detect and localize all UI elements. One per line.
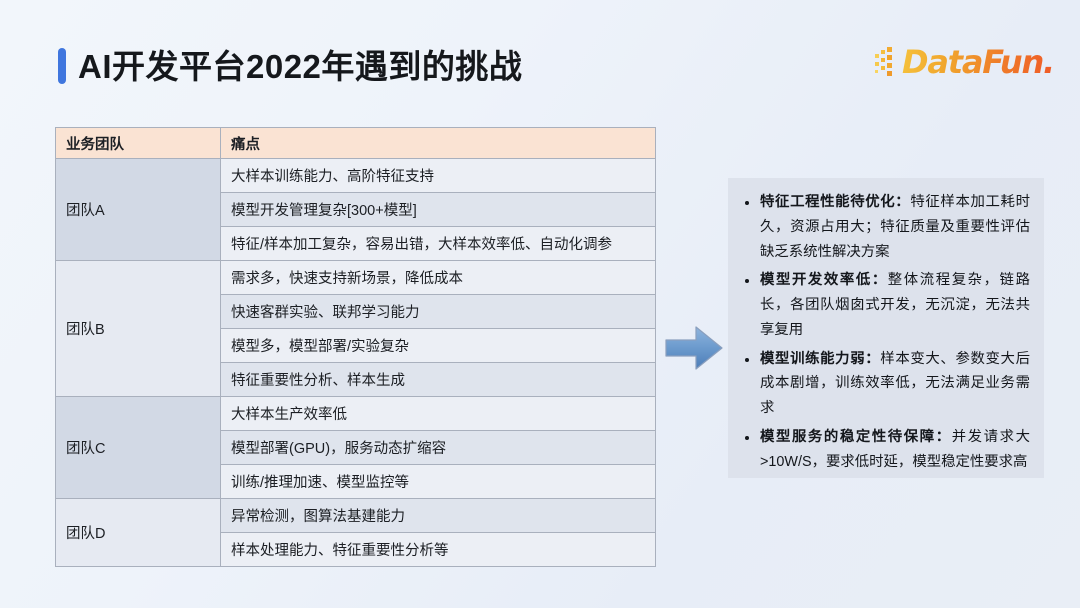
slide-root: AI开发平台2022年遇到的挑战 DataFun. xyxy=(0,0,1080,608)
challenges-list: 特征工程性能待优化：特征样本加工耗时久，资源占用大；特征质量及重要性评估缺乏系统… xyxy=(738,190,1030,474)
pain-point-cell: 需求多，快速支持新场景，降低成本 xyxy=(221,261,656,295)
list-item: 模型训练能力弱：样本变大、参数变大后成本剧增，训练效率低，无法满足业务需求 xyxy=(738,347,1030,421)
table-body: 团队A 大样本训练能力、高阶特征支持 模型开发管理复杂[300+模型] 特征/样… xyxy=(56,159,656,567)
pixel-dots-icon xyxy=(875,47,901,77)
challenges-callout-panel: 特征工程性能待优化：特征样本加工耗时久，资源占用大；特征质量及重要性评估缺乏系统… xyxy=(728,178,1044,478)
table-header: 业务团队 痛点 xyxy=(56,128,656,159)
page-title: AI开发平台2022年遇到的挑战 xyxy=(58,48,522,84)
pain-point-cell: 特征重要性分析、样本生成 xyxy=(221,363,656,397)
column-header-pain: 痛点 xyxy=(221,128,656,159)
pain-point-cell: 异常检测，图算法基建能力 xyxy=(221,499,656,533)
list-item: 模型服务的稳定性待保障：并发请求大>10W/S，要求低时延，模型稳定性要求高 xyxy=(738,425,1030,475)
list-item: 特征工程性能待优化：特征样本加工耗时久，资源占用大；特征质量及重要性评估缺乏系统… xyxy=(738,190,1030,264)
pain-point-cell: 样本处理能力、特征重要性分析等 xyxy=(221,533,656,567)
challenge-lead: 模型开发效率低： xyxy=(760,272,888,288)
pain-point-cell: 大样本训练能力、高阶特征支持 xyxy=(221,159,656,193)
pain-point-cell: 训练/推理加速、模型监控等 xyxy=(221,465,656,499)
column-header-team: 业务团队 xyxy=(56,128,221,159)
pain-point-cell: 模型开发管理复杂[300+模型] xyxy=(221,193,656,227)
challenge-lead: 模型服务的稳定性待保障： xyxy=(760,429,952,445)
pain-point-cell: 特征/样本加工复杂，容易出错，大样本效率低、自动化调参 xyxy=(221,227,656,261)
team-name-cell: 团队C xyxy=(56,397,221,499)
team-name-cell: 团队B xyxy=(56,261,221,397)
table-row: 团队A 大样本训练能力、高阶特征支持 xyxy=(56,159,656,193)
pain-point-cell: 快速客群实验、联邦学习能力 xyxy=(221,295,656,329)
list-item: 模型开发效率低：整体流程复杂，链路长，各团队烟囱式开发，无沉淀，无法共享复用 xyxy=(738,268,1030,342)
team-name-cell: 团队D xyxy=(56,499,221,567)
pain-point-cell: 模型多，模型部署/实验复杂 xyxy=(221,329,656,363)
pain-point-cell: 模型部署(GPU)，服务动态扩缩容 xyxy=(221,431,656,465)
challenge-lead: 特征工程性能待优化： xyxy=(760,194,910,210)
pain-points-table: 业务团队 痛点 团队A 大样本训练能力、高阶特征支持 模型开发管理复杂[300+… xyxy=(55,127,656,567)
team-name-cell: 团队A xyxy=(56,159,221,261)
right-arrow-icon xyxy=(665,325,723,371)
table-row: 团队D 异常检测，图算法基建能力 xyxy=(56,499,656,533)
challenge-lead: 模型训练能力弱： xyxy=(760,351,880,367)
pain-point-cell: 大样本生产效率低 xyxy=(221,397,656,431)
table-row: 团队B 需求多，快速支持新场景，降低成本 xyxy=(56,261,656,295)
logo-wordmark: DataFun. xyxy=(902,46,1054,78)
title-accent-bar xyxy=(58,48,66,84)
datafun-logo: DataFun. xyxy=(875,40,1054,84)
table-row: 团队C 大样本生产效率低 xyxy=(56,397,656,431)
title-text: AI开发平台2022年遇到的挑战 xyxy=(78,50,522,83)
table-header-row: 业务团队 痛点 xyxy=(56,128,656,159)
